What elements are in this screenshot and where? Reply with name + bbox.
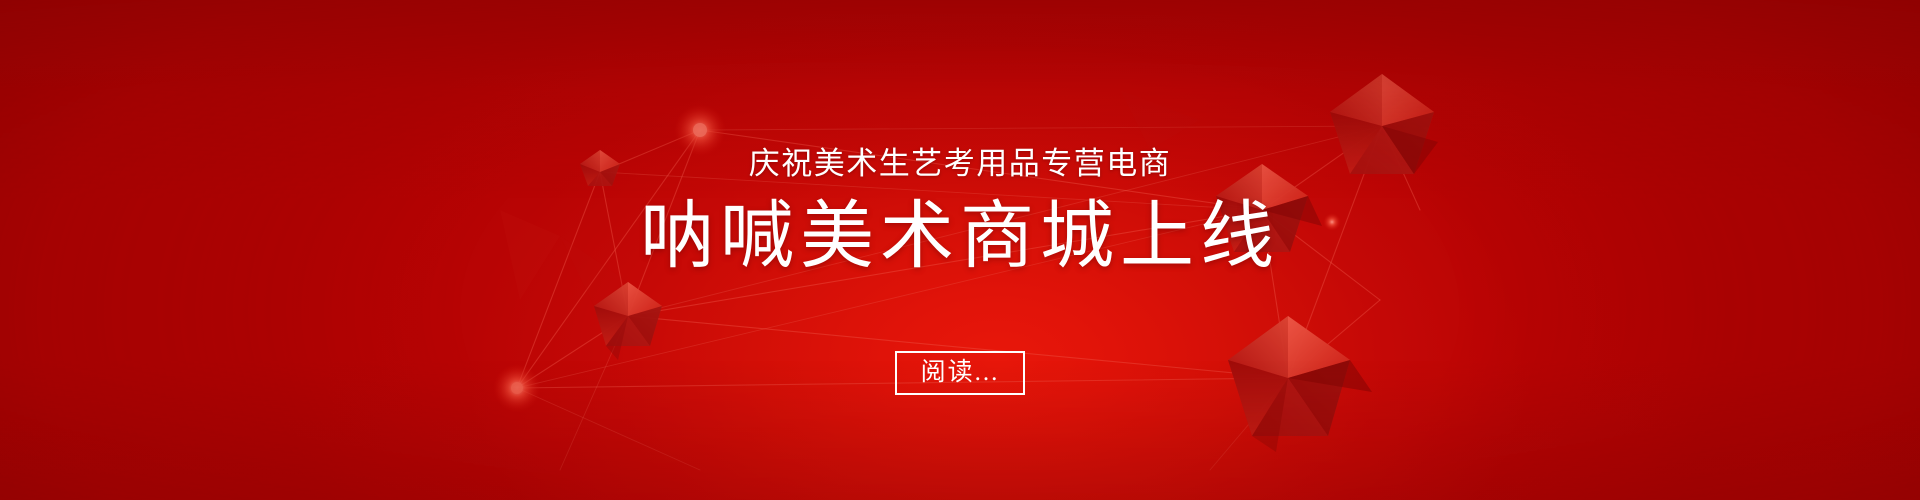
banner-headline: 呐喊美术商城上线 [640,200,1280,274]
hero-banner: 庆祝美术生艺考用品专营电商 呐喊美术商城上线 阅读... [0,0,1920,500]
banner-subtitle: 庆祝美术生艺考用品专营电商 [749,148,1172,179]
banner-content: 庆祝美术生艺考用品专营电商 呐喊美术商城上线 阅读... [0,0,1920,500]
read-more-button[interactable]: 阅读... [895,351,1025,395]
